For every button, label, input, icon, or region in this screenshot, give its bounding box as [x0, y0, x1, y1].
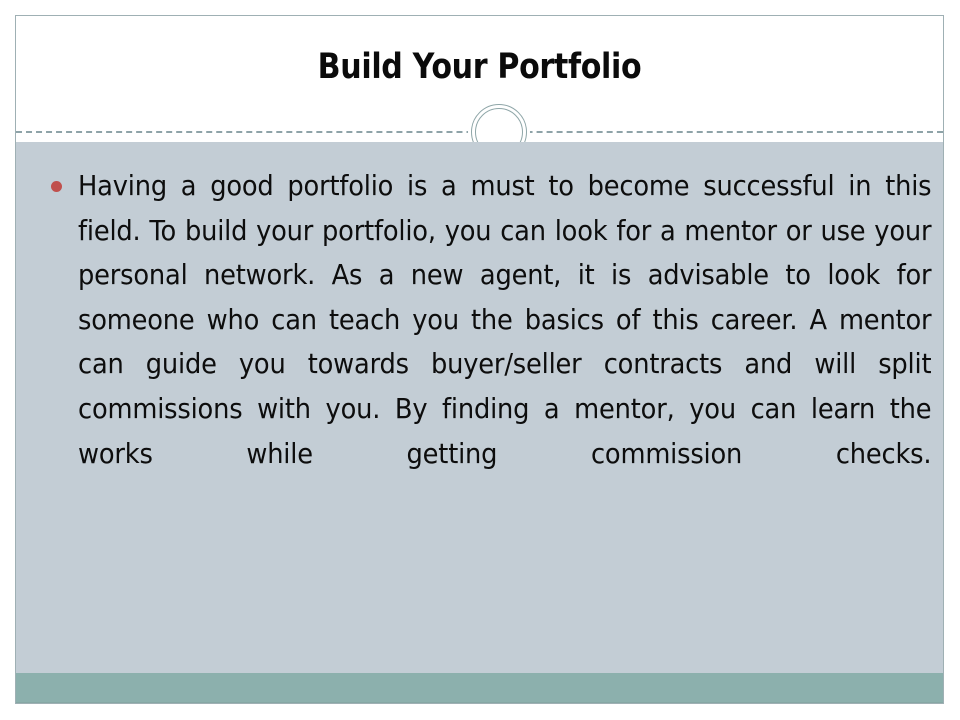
page-title: Build Your Portfolio: [81, 46, 878, 88]
footer-accent-bar-shade: [16, 702, 943, 704]
bullet-list: Having a good portfolio is a must to bec…: [42, 164, 931, 521]
bullet-dot-icon: [51, 181, 62, 192]
body-band: Having a good portfolio is a must to bec…: [16, 142, 943, 703]
presentation-slide: Build Your Portfolio Having a good portf…: [0, 0, 960, 720]
bullet-paragraph-text: Having a good portfolio is a must to bec…: [78, 164, 931, 521]
footer-accent-bar: [16, 673, 943, 704]
list-item: Having a good portfolio is a must to bec…: [42, 164, 931, 521]
slide-frame: Build Your Portfolio Having a good portf…: [15, 15, 944, 704]
